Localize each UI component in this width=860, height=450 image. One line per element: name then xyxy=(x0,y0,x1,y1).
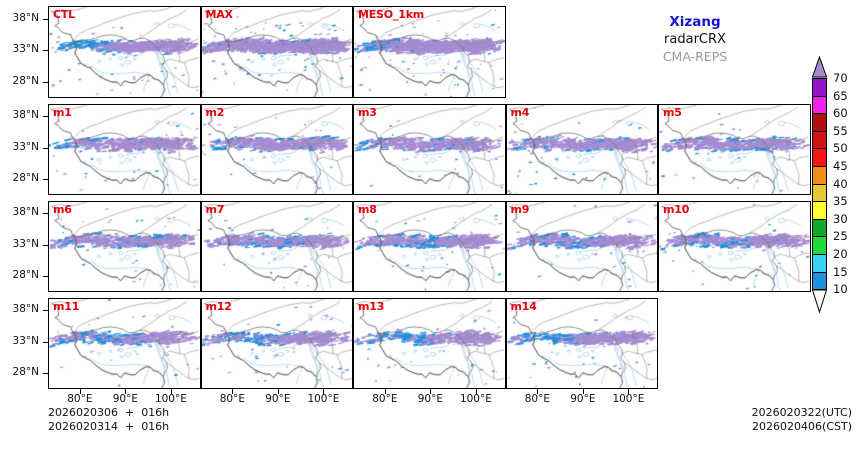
map-panel-m7: m7 xyxy=(201,201,354,293)
timestamp-init-left: 2026020306 + 016h 2026020314 + 016h xyxy=(48,406,169,434)
colorbar-tick-label: 40 xyxy=(833,177,848,191)
y-axis-tick xyxy=(43,179,48,180)
y-axis-tick xyxy=(43,82,48,83)
panel-label-m13: m13 xyxy=(358,300,384,313)
map-panel-m2: m2 xyxy=(201,104,354,196)
figure-title-block: XizangradarCRXCMA-REPS xyxy=(590,14,800,65)
colorbar-tick-label: 35 xyxy=(833,194,848,208)
x-axis-tick-label: 90°E xyxy=(99,393,151,405)
panel-label-m2: m2 xyxy=(206,106,225,119)
map-panel-m10: m10 xyxy=(658,201,811,293)
y-axis-tick xyxy=(43,50,48,51)
map-panel-m3: m3 xyxy=(353,104,506,196)
map-panel-m8: m8 xyxy=(353,201,506,293)
y-axis-tick-label: 28°N xyxy=(0,172,39,184)
panel-label-m14: m14 xyxy=(511,300,537,313)
colorbar-extend-min-arrow xyxy=(812,289,827,317)
x-axis-tick xyxy=(278,389,279,394)
x-axis-tick-label: 80°E xyxy=(359,393,411,405)
colorbar-swatch xyxy=(812,272,827,291)
title-model: CMA-REPS xyxy=(590,48,800,65)
colorbar-tick-label: 70 xyxy=(833,71,848,85)
map-panel-m13: m13 xyxy=(353,298,506,390)
panel-label-m10: m10 xyxy=(663,203,689,216)
x-axis-tick-label: 80°E xyxy=(54,393,106,405)
colorbar-swatch xyxy=(812,219,827,238)
colorbar-swatch xyxy=(812,113,827,132)
y-axis-tick xyxy=(43,116,48,117)
panel-label-m12: m12 xyxy=(206,300,232,313)
panel-label-m3: m3 xyxy=(358,106,377,119)
y-axis-tick-label: 38°N xyxy=(0,109,39,121)
colorbar-swatch xyxy=(812,254,827,273)
panel-label-m11: m11 xyxy=(53,300,79,313)
x-axis-tick-label: 90°E xyxy=(252,393,304,405)
colorbar-tick-label: 10 xyxy=(833,282,848,296)
colorbar-tick-label: 25 xyxy=(833,229,848,243)
y-axis-tick xyxy=(43,213,48,214)
map-panel-m5: m5 xyxy=(658,104,811,196)
colorbar-swatch xyxy=(812,184,827,203)
y-axis-tick-label: 38°N xyxy=(0,303,39,315)
colorbar-swatch xyxy=(812,131,827,150)
x-axis-tick xyxy=(430,389,431,394)
y-axis-tick xyxy=(43,19,48,20)
panel-label-m9: m9 xyxy=(511,203,530,216)
colorbar-tick-label: 60 xyxy=(833,106,848,120)
map-panel-m4: m4 xyxy=(506,104,659,196)
colorbar-swatch xyxy=(812,96,827,115)
x-axis-tick-label: 100°E xyxy=(145,393,197,405)
map-panel-max: MAX xyxy=(201,6,354,98)
panel-label-max: MAX xyxy=(206,8,233,21)
x-axis-tick xyxy=(232,389,233,394)
x-axis-tick-label: 100°E xyxy=(297,393,349,405)
colorbar-swatch xyxy=(812,166,827,185)
colorbar-tick-label: 50 xyxy=(833,141,848,155)
colorbar: 70656055504540353025201510 xyxy=(812,56,852,313)
y-axis-tick-label: 33°N xyxy=(0,335,39,347)
panel-label-m6: m6 xyxy=(53,203,72,216)
x-axis-tick xyxy=(323,389,324,394)
x-axis-tick xyxy=(80,389,81,394)
colorbar-tick-label: 65 xyxy=(833,89,848,103)
colorbar-tick-label: 30 xyxy=(833,212,848,226)
x-axis-tick xyxy=(476,389,477,394)
x-axis-tick xyxy=(171,389,172,394)
y-axis-tick-label: 33°N xyxy=(0,238,39,250)
colorbar-swatch xyxy=(812,236,827,255)
y-axis-tick-label: 33°N xyxy=(0,43,39,55)
colorbar-tick-label: 15 xyxy=(833,265,848,279)
map-panel-m6: m6 xyxy=(48,201,201,293)
x-axis-tick-label: 80°E xyxy=(206,393,258,405)
colorbar-swatch xyxy=(812,201,827,220)
colorbar-swatch xyxy=(812,78,827,97)
y-axis-tick-label: 28°N xyxy=(0,75,39,87)
y-axis-tick xyxy=(43,245,48,246)
y-axis-tick xyxy=(43,148,48,149)
title-region: Xizang xyxy=(590,14,800,31)
y-axis-tick-label: 28°N xyxy=(0,269,39,281)
x-axis-tick xyxy=(537,389,538,394)
panel-label-meso_1km: MESO_1km xyxy=(358,8,424,21)
panel-label-m8: m8 xyxy=(358,203,377,216)
map-panel-meso_1km: MESO_1km xyxy=(353,6,506,98)
x-axis-tick-label: 100°E xyxy=(602,393,654,405)
x-axis-tick xyxy=(583,389,584,394)
y-axis-tick-label: 38°N xyxy=(0,206,39,218)
y-axis-tick-label: 38°N xyxy=(0,12,39,24)
y-axis-tick-label: 28°N xyxy=(0,366,39,378)
x-axis-tick-label: 90°E xyxy=(557,393,609,405)
y-axis-tick xyxy=(43,373,48,374)
map-panel-m12: m12 xyxy=(201,298,354,390)
title-product: radarCRX xyxy=(590,31,800,48)
y-axis-tick xyxy=(43,276,48,277)
colorbar-tick-label: 20 xyxy=(833,247,848,261)
panel-label-m5: m5 xyxy=(663,106,682,119)
x-axis-tick xyxy=(125,389,126,394)
x-axis-tick xyxy=(385,389,386,394)
x-axis-tick-label: 100°E xyxy=(450,393,502,405)
map-panel-m9: m9 xyxy=(506,201,659,293)
x-axis-tick xyxy=(628,389,629,394)
timestamp-valid-right: 2026020322(UTC) 2026020406(CST) xyxy=(752,406,852,434)
map-panel-m11: m11 xyxy=(48,298,201,390)
x-axis-tick-label: 90°E xyxy=(404,393,456,405)
colorbar-tick-label: 45 xyxy=(833,159,848,173)
y-axis-tick-label: 33°N xyxy=(0,141,39,153)
panel-label-ctl: CTL xyxy=(53,8,75,21)
map-panel-ctl: CTL xyxy=(48,6,201,98)
panel-label-m1: m1 xyxy=(53,106,72,119)
colorbar-swatch xyxy=(812,148,827,167)
panel-label-m7: m7 xyxy=(206,203,225,216)
map-panel-m1: m1 xyxy=(48,104,201,196)
colorbar-tick-label: 55 xyxy=(833,124,848,138)
y-axis-tick xyxy=(43,342,48,343)
panel-label-m4: m4 xyxy=(511,106,530,119)
map-panel-m14: m14 xyxy=(506,298,659,390)
x-axis-tick-label: 80°E xyxy=(511,393,563,405)
y-axis-tick xyxy=(43,310,48,311)
